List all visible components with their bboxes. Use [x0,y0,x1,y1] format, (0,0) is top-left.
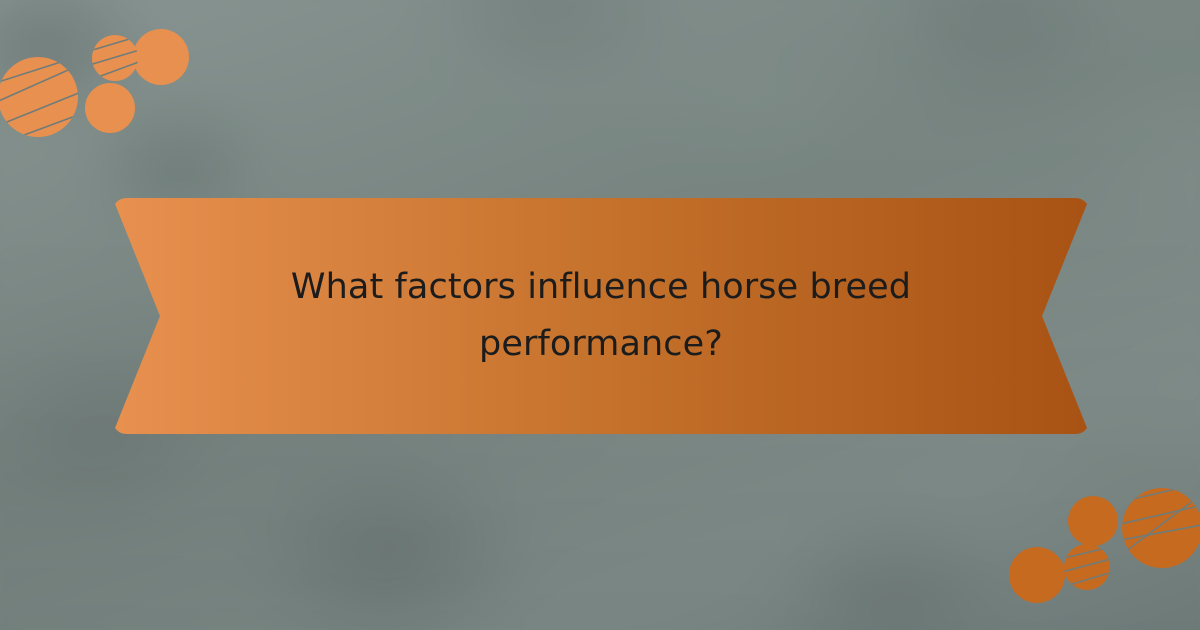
striped-circle-large-icon [0,54,86,144]
striped-circle-small-icon [1058,544,1118,590]
plain-circle-large-icon [133,29,189,85]
plain-circle-large-icon [1009,547,1065,603]
striped-circle-large-icon [1116,481,1200,568]
plain-circle-medium-icon [85,83,135,133]
banner-canvas: What factors influence horse breed perfo… [0,0,1200,630]
ribbon-banner [112,198,1090,434]
circle-cluster-top-left [0,46,214,166]
plain-circle-medium-icon [1068,496,1118,546]
ribbon-shape [115,198,1087,434]
circle-cluster-bottom-right [1000,485,1200,615]
